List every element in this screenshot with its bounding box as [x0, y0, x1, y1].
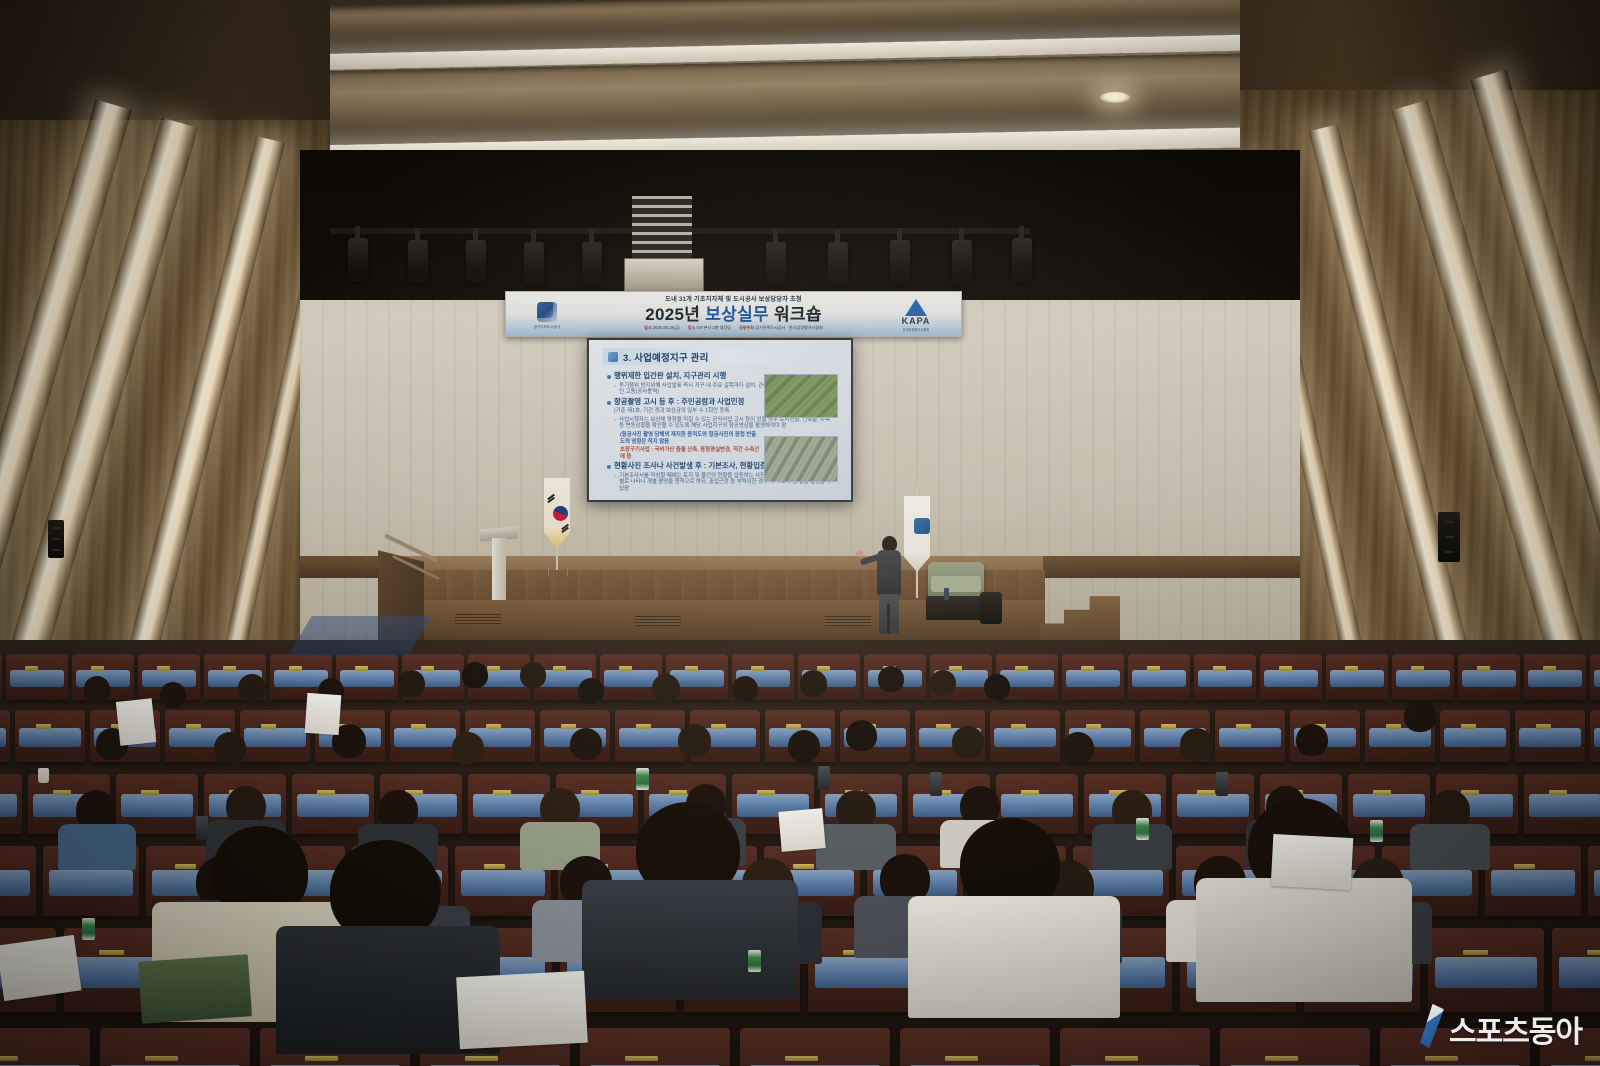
attendee-torso — [58, 824, 136, 870]
ceiling-downlight — [1100, 92, 1130, 103]
seat[interactable] — [0, 846, 36, 916]
auditorium-photo: 경기주택도시공사 도내 31개 기초지자체 및 도시공사 보상담당자 초청 20… — [0, 0, 1600, 1066]
attendee-head — [1404, 700, 1436, 732]
attendee-head — [238, 674, 266, 702]
presenter-legs — [879, 594, 899, 634]
attendee-head — [952, 726, 984, 758]
handout-paper — [1271, 834, 1354, 890]
attendee-torso — [1196, 878, 1412, 1002]
banner-title-highlight: 보상실무 — [705, 305, 769, 324]
seat[interactable] — [1326, 654, 1388, 700]
flag-cloth — [544, 478, 570, 548]
seat[interactable] — [15, 710, 85, 762]
attendee-head — [1062, 732, 1094, 764]
attendee-head — [984, 674, 1010, 700]
seat[interactable] — [6, 654, 68, 700]
banner-host: 공동주최 경기주택도시공사 · 한국감정평가사협회 — [739, 325, 823, 331]
attendee-head — [520, 662, 546, 688]
seat[interactable] — [0, 1028, 90, 1066]
drink-can — [82, 918, 95, 940]
handout-paper — [456, 971, 588, 1050]
stage-light-fixture — [766, 242, 786, 286]
korean-flag — [540, 470, 574, 576]
bullet-dash-icon: ◦ — [614, 418, 616, 430]
drink-can — [1370, 820, 1383, 842]
seat[interactable] — [240, 710, 310, 762]
seat[interactable] — [1428, 928, 1544, 1012]
seat[interactable] — [0, 710, 10, 762]
attendee-head — [846, 720, 877, 751]
attendee-head — [84, 676, 110, 702]
banner-center: 도내 31개 기초지자체 및 도시공사 보상담당자 초청 2025년 보상실무 … — [574, 297, 894, 330]
backpack — [980, 592, 1002, 624]
seat[interactable] — [1220, 1028, 1370, 1066]
attendee-head — [1296, 724, 1328, 756]
aisle-carpet — [288, 616, 431, 656]
stage-light-fixture — [1012, 238, 1032, 282]
drink-can — [1136, 818, 1149, 840]
gh-emblem-icon — [914, 518, 930, 534]
seat[interactable] — [740, 1028, 890, 1066]
slide-bullet: ◦ 사업시행자는 보상에 영향을 미칠 수 있는 공익사업 고시 등이 있을 경… — [607, 417, 843, 430]
seat-row — [0, 1028, 1600, 1066]
wall-speaker-left — [48, 520, 64, 558]
bullet-dot-icon — [607, 375, 611, 379]
seat[interactable] — [1215, 710, 1285, 762]
seat[interactable] — [1515, 710, 1585, 762]
left-side-wall — [0, 0, 330, 720]
banner-date: 일시 2025.09.19(금) — [644, 325, 680, 331]
gh-logo: 경기주택도시공사 — [516, 298, 578, 332]
banner-subtitle: 도내 31개 기초지자체 및 도시공사 보상담당자 초청 — [574, 297, 894, 303]
seat[interactable] — [900, 1028, 1050, 1066]
event-banner: 경기주택도시공사 도내 31개 기초지자체 및 도시공사 보상담당자 초청 20… — [505, 291, 962, 337]
attendee-torso — [1092, 824, 1172, 870]
projection-screen: 3. 사업예정지구 관리 행위제한 입간판 설치, 지구관리 시행 ◦ 투기행위… — [587, 338, 853, 502]
drink-can — [748, 950, 761, 972]
stage-light-fixture — [582, 242, 602, 286]
attendee-head — [678, 724, 711, 757]
tumbler — [196, 816, 208, 840]
seat[interactable] — [336, 654, 398, 700]
tumbler — [930, 772, 942, 796]
tumbler — [1216, 772, 1228, 796]
seat[interactable] — [615, 710, 685, 762]
stage-light-fixture — [828, 242, 848, 286]
seat[interactable] — [0, 774, 22, 834]
seat[interactable] — [100, 1028, 250, 1066]
seat[interactable] — [580, 1028, 730, 1066]
drink-can — [636, 768, 649, 790]
seat[interactable] — [1552, 928, 1600, 1012]
attendee-head — [1180, 728, 1213, 761]
stage-light-fixture — [466, 240, 486, 284]
attendee-torso — [1410, 824, 1490, 870]
stage-vent-grille — [825, 616, 871, 626]
notebook — [138, 954, 252, 1024]
seat[interactable] — [1458, 654, 1520, 700]
handout-paper — [0, 935, 82, 1001]
attendee-head — [878, 666, 904, 692]
seat[interactable] — [1172, 774, 1254, 834]
attendee-head — [578, 678, 604, 704]
seat[interactable] — [1260, 654, 1322, 700]
slide-surface: 3. 사업예정지구 관리 행위제한 입간판 설치, 지구관리 시행 ◦ 투기행위… — [589, 340, 851, 500]
stage-light-fixture — [408, 240, 428, 284]
slide-title-text: 3. 사업예정지구 관리 — [623, 350, 709, 364]
attendee-head — [452, 732, 484, 764]
watermark-text: 스포츠동아 — [1449, 1018, 1582, 1048]
banner-title-tail: 워크숍 — [769, 305, 822, 324]
seat[interactable] — [1440, 710, 1510, 762]
attendee-head — [732, 676, 758, 702]
attendee-torso — [582, 880, 798, 1000]
slide-photo-aerial — [764, 436, 838, 482]
taeguk-symbol-icon — [553, 506, 568, 521]
banner-title-year: 2025년 — [645, 305, 705, 324]
attendee-head — [800, 670, 827, 697]
stage-light-fixture — [952, 240, 972, 284]
stage-light-fixture — [524, 242, 544, 286]
handout-paper — [778, 808, 825, 852]
banner-title: 2025년 보상실무 워크숍 — [574, 305, 894, 324]
gh-logo-caption: 경기주택도시공사 — [534, 324, 561, 329]
flag-cloth — [904, 496, 930, 572]
stage-light-fixture — [348, 238, 368, 282]
bullet-dot-icon — [607, 465, 611, 469]
gh-logo-glyph — [537, 302, 557, 322]
kapa-logo-text: KAPA — [902, 317, 931, 326]
stage-light-fixture — [890, 240, 910, 284]
presenter-hand — [856, 551, 863, 557]
water-bottle — [944, 588, 949, 600]
projector-lift-housing — [624, 258, 704, 292]
banner-meta: 일시 2025.09.19(금) 장소 GH 본사 2층 대강당 공동주최 경기… — [574, 325, 894, 331]
seat[interactable] — [1062, 654, 1124, 700]
slide-photo-signboard — [764, 374, 838, 418]
seat[interactable] — [390, 710, 460, 762]
handout-paper — [305, 693, 342, 735]
audience-seating — [0, 640, 1600, 1066]
slide-title: 3. 사업예정지구 관리 — [603, 348, 829, 365]
seat[interactable] — [1524, 774, 1600, 834]
watermark: 스포츠동아 — [1419, 1004, 1582, 1048]
attendee-head — [930, 670, 956, 696]
attendee-head — [398, 670, 425, 697]
kapa-logo-caption: 한국감정평가사협회 — [903, 327, 929, 332]
seat[interactable] — [1588, 846, 1600, 916]
bullet-dot-icon — [607, 401, 611, 405]
seat[interactable] — [990, 710, 1060, 762]
wall-speaker-right — [1438, 512, 1460, 562]
seat[interactable] — [1128, 654, 1190, 700]
banner-place: 장소 GH 본사 2층 대강당 — [688, 325, 731, 331]
tumbler — [818, 766, 830, 790]
watermark-mark-icon — [1417, 1003, 1446, 1049]
seat[interactable] — [1524, 654, 1586, 700]
seat[interactable] — [1060, 1028, 1210, 1066]
attendee-head — [160, 682, 186, 708]
attendee-head — [214, 732, 246, 764]
seat[interactable] — [1392, 654, 1454, 700]
flag-stand — [548, 566, 568, 576]
paper-cup — [38, 768, 49, 783]
seat[interactable] — [1485, 846, 1581, 916]
attendee-head — [652, 674, 680, 702]
attendee-torso — [908, 896, 1120, 1018]
seat[interactable] — [0, 654, 2, 700]
kapa-logo-glyph — [905, 299, 927, 316]
stage-vent-grille — [635, 616, 681, 626]
seat[interactable] — [1194, 654, 1256, 700]
stage-masking — [300, 150, 1300, 300]
attendee-head — [570, 728, 602, 760]
attendee-head — [788, 730, 820, 762]
kapa-logo: KAPA 한국감정평가사협회 — [879, 296, 953, 334]
podium-column — [492, 538, 506, 600]
presenter — [868, 536, 904, 632]
handout-paper — [116, 698, 156, 746]
attendee-head — [462, 662, 488, 688]
seat[interactable] — [1590, 654, 1600, 700]
bullet-dash-icon: ◦ — [614, 384, 616, 396]
stage-vent-grille — [455, 614, 501, 624]
seat[interactable] — [1590, 710, 1600, 762]
bullet-dash-icon: ◦ — [614, 474, 616, 493]
